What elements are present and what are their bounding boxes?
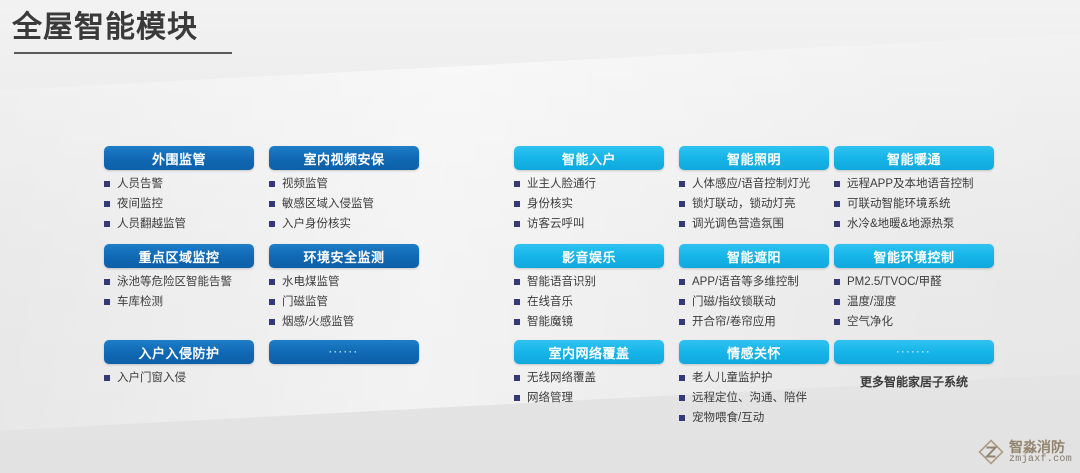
list-item: 老人儿童监护护 — [679, 372, 829, 385]
group-header-more[interactable]: ······ — [269, 340, 419, 364]
bullet-icon — [269, 221, 275, 227]
list-item: 人员告警 — [104, 178, 254, 191]
bullet-icon — [834, 279, 840, 285]
list-item-label: 远程定位、沟通、陪伴 — [692, 392, 807, 404]
list-item: 访客云呼叫 — [514, 218, 664, 231]
list-item-label: APP/语音等多维控制 — [692, 276, 799, 288]
group-header[interactable]: 外围监管 — [104, 146, 254, 170]
list-item: 门磁/指纹锁联动 — [679, 296, 829, 309]
bullet-icon — [679, 415, 685, 421]
group-card: 室内网络覆盖 无线网络覆盖 网络管理 — [514, 340, 664, 421]
group-item-list: 视频监管 敏感区域入侵监管 入户身份核实 — [269, 178, 419, 232]
list-item-label: 远程APP及本地语音控制 — [847, 178, 974, 190]
bullet-icon — [269, 181, 275, 187]
list-item: 人员翻越监管 — [104, 218, 254, 231]
list-item-label: 锁灯联动，锁动灯亮 — [692, 198, 796, 210]
watermark-name: 智淼消防 — [1009, 440, 1072, 454]
group-header[interactable]: 室内网络覆盖 — [514, 340, 664, 364]
group-item-list: 智能语音识别 在线音乐 智能魔镜 — [514, 276, 664, 330]
list-item-label: 人体感应/语音控制灯光 — [692, 178, 810, 190]
list-item-label: 开合帘/卷帘应用 — [692, 316, 776, 328]
list-item: 水电煤监管 — [269, 276, 419, 289]
group-card: 重点区域监控 泳池等危险区智能告警 车库检测 — [104, 244, 254, 325]
module-columns: 外围监管 人员告警 夜间监控 人员翻越监管 重点区域监控 泳池等危险区智能告警 … — [0, 140, 1080, 440]
group-header[interactable]: 智能遮阳 — [679, 244, 829, 268]
bullet-icon — [679, 201, 685, 207]
list-item-label: 调光调色营造氛围 — [692, 218, 784, 230]
bullet-icon — [514, 395, 520, 401]
bullet-icon — [104, 201, 110, 207]
list-item-label: 宠物喂食/互动 — [692, 412, 764, 424]
group-item-list: 水电煤监管 门磁监管 烟感/火感监管 — [269, 276, 419, 330]
group-header[interactable]: 环境安全监测 — [269, 244, 419, 268]
list-item: 温度/湿度 — [834, 296, 994, 309]
list-item: 泳池等危险区智能告警 — [104, 276, 254, 289]
list-item: 开合帘/卷帘应用 — [679, 316, 829, 329]
group-card: 智能入户 业主人脸通行 身份核实 访客云呼叫 — [514, 146, 664, 248]
bullet-icon — [269, 279, 275, 285]
group-card: 环境安全监测 水电煤监管 门磁监管 烟感/火感监管 — [269, 244, 419, 346]
page-title: 全屋智能模块 — [12, 10, 198, 46]
group-card: 情感关怀 老人儿童监护护 远程定位、沟通、陪伴 宠物喂食/互动 — [679, 340, 829, 442]
group-header[interactable]: 智能环境控制 — [834, 244, 994, 268]
bullet-icon — [269, 299, 275, 305]
list-item-label: 可联动智能环境系统 — [847, 198, 951, 210]
list-item: 身份核实 — [514, 198, 664, 211]
footnote-label: 更多智能家居子系统 — [834, 373, 994, 390]
title-underline — [14, 52, 232, 54]
list-item-label: 入户身份核实 — [282, 218, 351, 230]
group-card: 智能遮阳 APP/语音等多维控制 门磁/指纹锁联动 开合帘/卷帘应用 — [679, 244, 829, 346]
bullet-icon — [679, 375, 685, 381]
list-item-label: 老人儿童监护护 — [692, 372, 773, 384]
list-item: 在线音乐 — [514, 296, 664, 309]
group-header[interactable]: 智能照明 — [679, 146, 829, 170]
list-item: 远程APP及本地语音控制 — [834, 178, 994, 191]
group-header[interactable]: 情感关怀 — [679, 340, 829, 364]
bullet-icon — [679, 299, 685, 305]
group-item-list: 老人儿童监护护 远程定位、沟通、陪伴 宠物喂食/互动 — [679, 372, 829, 426]
group-item-list: 入户门窗入侵 — [104, 372, 254, 385]
group-card: 智能暖通 远程APP及本地语音控制 可联动智能环境系统 水冷&地暖&地源热泵 — [834, 146, 994, 248]
bullet-icon — [104, 375, 110, 381]
bullet-icon — [269, 319, 275, 325]
list-item: 智能语音识别 — [514, 276, 664, 289]
watermark: 智淼消防 zmjaxf.com — [978, 439, 1072, 465]
list-item: 烟感/火感监管 — [269, 316, 419, 329]
group-header[interactable]: 智能暖通 — [834, 146, 994, 170]
group-header[interactable]: 入户入侵防护 — [104, 340, 254, 364]
slide-canvas: 全屋智能模块 外围监管 人员告警 夜间监控 人员翻越监管 重点区域监控 泳池等危… — [0, 0, 1080, 473]
bullet-icon — [514, 299, 520, 305]
group-header[interactable]: 智能入户 — [514, 146, 664, 170]
group-item-list: PM2.5/TVOC/甲醛 温度/湿度 空气净化 — [834, 276, 994, 330]
bullet-icon — [104, 181, 110, 187]
list-item-label: 身份核实 — [527, 198, 573, 210]
group-card: 智能环境控制 PM2.5/TVOC/甲醛 温度/湿度 空气净化 — [834, 244, 994, 346]
list-item-label: 视频监管 — [282, 178, 328, 190]
list-item-label: 烟感/火感监管 — [282, 316, 354, 328]
list-item: 视频监管 — [269, 178, 419, 191]
group-header[interactable]: 影音娱乐 — [514, 244, 664, 268]
list-item: 夜间监控 — [104, 198, 254, 211]
list-item-label: 水冷&地暖&地源热泵 — [847, 218, 954, 230]
list-item-label: 人员告警 — [117, 178, 163, 190]
group-item-list: 泳池等危险区智能告警 车库检测 — [104, 276, 254, 309]
bullet-icon — [679, 221, 685, 227]
bullet-icon — [104, 299, 110, 305]
bullet-icon — [514, 375, 520, 381]
group-header[interactable]: 重点区域监控 — [104, 244, 254, 268]
list-item-label: 空气净化 — [847, 316, 893, 328]
bullet-icon — [834, 319, 840, 325]
bullet-icon — [834, 181, 840, 187]
group-item-list: 业主人脸通行 身份核实 访客云呼叫 — [514, 178, 664, 232]
list-item: 调光调色营造氛围 — [679, 218, 829, 231]
list-item-label: 温度/湿度 — [847, 296, 896, 308]
list-item-label: 车库检测 — [117, 296, 163, 308]
bullet-icon — [834, 201, 840, 207]
list-item: 业主人脸通行 — [514, 178, 664, 191]
bullet-icon — [514, 221, 520, 227]
list-item: 水冷&地暖&地源热泵 — [834, 218, 994, 231]
list-item: 网络管理 — [514, 392, 664, 405]
list-item: 智能魔镜 — [514, 316, 664, 329]
bullet-icon — [514, 201, 520, 207]
bullet-icon — [834, 221, 840, 227]
list-item: 人体感应/语音控制灯光 — [679, 178, 829, 191]
list-item-label: 夜间监控 — [117, 198, 163, 210]
bullet-icon — [679, 395, 685, 401]
bullet-icon — [679, 319, 685, 325]
list-item: 敏感区域入侵监管 — [269, 198, 419, 211]
list-item-label: 网络管理 — [527, 392, 573, 404]
list-item-label: 人员翻越监管 — [117, 218, 186, 230]
list-item-label: 门磁监管 — [282, 296, 328, 308]
group-header-more[interactable]: ······· — [834, 340, 994, 364]
list-item: 入户身份核实 — [269, 218, 419, 231]
bullet-icon — [514, 181, 520, 187]
list-item-label: 业主人脸通行 — [527, 178, 596, 190]
group-item-list: 人员告警 夜间监控 人员翻越监管 — [104, 178, 254, 232]
list-item: 车库检测 — [104, 296, 254, 309]
list-item-label: 门磁/指纹锁联动 — [692, 296, 776, 308]
list-item-label: 访客云呼叫 — [527, 218, 585, 230]
group-item-list: 远程APP及本地语音控制 可联动智能环境系统 水冷&地暖&地源热泵 — [834, 178, 994, 232]
list-item: 远程定位、沟通、陪伴 — [679, 392, 829, 405]
group-card: ······· — [834, 340, 994, 364]
bullet-icon — [269, 201, 275, 207]
list-item: 锁灯联动，锁动灯亮 — [679, 198, 829, 211]
list-item: 可联动智能环境系统 — [834, 198, 994, 211]
watermark-text: 智淼消防 zmjaxf.com — [1009, 440, 1072, 465]
list-item-label: 智能魔镜 — [527, 316, 573, 328]
group-card: 影音娱乐 智能语音识别 在线音乐 智能魔镜 — [514, 244, 664, 346]
list-item: APP/语音等多维控制 — [679, 276, 829, 289]
list-item: 无线网络覆盖 — [514, 372, 664, 385]
bullet-icon — [514, 279, 520, 285]
list-item: 入户门窗入侵 — [104, 372, 254, 385]
bullet-icon — [104, 221, 110, 227]
group-card: 室内视频安保 视频监管 敏感区域入侵监管 入户身份核实 — [269, 146, 419, 248]
watermark-url: zmjaxf.com — [1009, 455, 1072, 465]
group-card: ······ — [269, 340, 419, 364]
list-item-label: 敏感区域入侵监管 — [282, 198, 374, 210]
list-item: PM2.5/TVOC/甲醛 — [834, 276, 994, 289]
bullet-icon — [514, 319, 520, 325]
diamond-z-logo-icon — [978, 439, 1004, 465]
list-item-label: PM2.5/TVOC/甲醛 — [847, 276, 942, 288]
group-item-list: 无线网络覆盖 网络管理 — [514, 372, 664, 405]
group-card: 外围监管 人员告警 夜间监控 人员翻越监管 — [104, 146, 254, 248]
group-header[interactable]: 室内视频安保 — [269, 146, 419, 170]
group-card: 入户入侵防护 入户门窗入侵 — [104, 340, 254, 401]
bullet-icon — [104, 279, 110, 285]
list-item-label: 智能语音识别 — [527, 276, 596, 288]
bullet-icon — [679, 279, 685, 285]
bullet-icon — [834, 299, 840, 305]
group-item-list: 人体感应/语音控制灯光 锁灯联动，锁动灯亮 调光调色营造氛围 — [679, 178, 829, 232]
list-item: 空气净化 — [834, 316, 994, 329]
list-item-label: 水电煤监管 — [282, 276, 340, 288]
list-item-label: 无线网络覆盖 — [527, 372, 596, 384]
list-item-label: 入户门窗入侵 — [117, 372, 186, 384]
list-item-label: 在线音乐 — [527, 296, 573, 308]
list-item-label: 泳池等危险区智能告警 — [117, 276, 232, 288]
group-item-list: APP/语音等多维控制 门磁/指纹锁联动 开合帘/卷帘应用 — [679, 276, 829, 330]
bullet-icon — [679, 181, 685, 187]
group-card: 智能照明 人体感应/语音控制灯光 锁灯联动，锁动灯亮 调光调色营造氛围 — [679, 146, 829, 248]
list-item: 宠物喂食/互动 — [679, 412, 829, 425]
list-item: 门磁监管 — [269, 296, 419, 309]
